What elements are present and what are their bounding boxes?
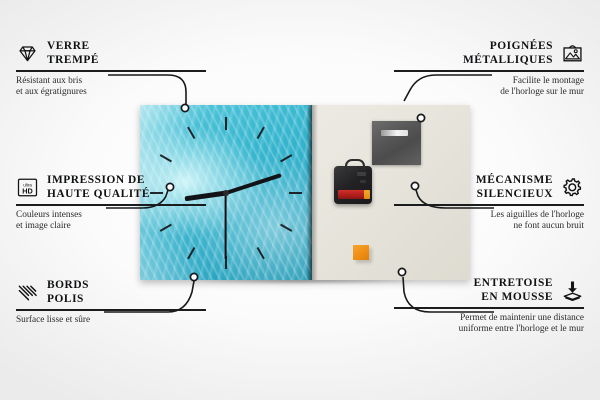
feature-header: ENTRETOISE EN MOUSSE: [394, 277, 584, 304]
feature-bords-polis: BORDS POLIS Surface lisse et sûre: [16, 279, 206, 326]
metal-hanger-plate: [372, 121, 421, 165]
feature-header: ultra HD IMPRESSION DE HAUTE QUALITÉ: [16, 174, 206, 201]
divider: [16, 309, 206, 310]
diamond-icon: [16, 42, 39, 65]
gear-icon: [561, 176, 584, 199]
feature-verre-trempe: VERRE TREMPÉ Résistant aux bris et aux é…: [16, 40, 206, 99]
feature-description: Surface lisse et sûre: [16, 315, 206, 327]
feature-title: BORDS POLIS: [47, 279, 89, 306]
feature-title: ENTRETOISE EN MOUSSE: [474, 277, 553, 304]
foam-spacer: [353, 245, 369, 260]
picture-frame-hanger-icon: [561, 42, 584, 65]
feature-title: POIGNÉES MÉTALLIQUES: [463, 40, 553, 67]
foam-spacer-arrow-icon: [561, 279, 584, 302]
feature-title: IMPRESSION DE HAUTE QUALITÉ: [47, 174, 150, 201]
feature-mecanisme-silencieux: MÉCANISME SILENCIEUX Les aiguilles de l'…: [394, 174, 584, 233]
feature-description: Permet de maintenir une distance uniform…: [394, 313, 584, 336]
feature-impression-haute-qualite: ultra HD IMPRESSION DE HAUTE QUALITÉ Cou…: [16, 174, 206, 233]
feature-description: Couleurs intenses et image claire: [16, 210, 206, 233]
clock-center-pin: [223, 190, 229, 196]
ultra-hd-icon: ultra HD: [16, 176, 39, 199]
clock-mechanism-box: [334, 166, 372, 204]
feature-description: Résistant aux bris et aux égratignures: [16, 76, 206, 99]
feature-header: VERRE TREMPÉ: [16, 40, 206, 67]
divider: [394, 70, 584, 71]
feature-entretoise-en-mousse: ENTRETOISE EN MOUSSE Permet de maintenir…: [394, 277, 584, 336]
feature-description: Les aiguilles de l'horloge ne font aucun…: [394, 210, 584, 233]
feature-header: POIGNÉES MÉTALLIQUES: [394, 40, 584, 67]
battery: [338, 190, 369, 199]
infographic-canvas: VERRE TREMPÉ Résistant aux bris et aux é…: [0, 0, 600, 400]
hanger-loop-icon: [345, 159, 365, 170]
feature-header: BORDS POLIS: [16, 279, 206, 306]
feature-title: MÉCANISME SILENCIEUX: [476, 174, 553, 201]
divider: [16, 204, 206, 205]
mechanism-slot-small: [360, 180, 366, 183]
feature-title: VERRE TREMPÉ: [47, 40, 99, 67]
divider: [394, 204, 584, 205]
svg-text:HD: HD: [22, 186, 33, 195]
divider: [394, 307, 584, 308]
mechanism-slot: [357, 172, 366, 176]
feature-description: Facilite le montage de l'horloge sur le …: [394, 76, 584, 99]
divider: [16, 70, 206, 71]
feature-header: MÉCANISME SILENCIEUX: [394, 174, 584, 201]
polished-edges-icon: [16, 281, 39, 304]
feature-poignees-metalliques: POIGNÉES MÉTALLIQUES Facilite le montage…: [394, 40, 584, 99]
clock-second-hand: [225, 193, 227, 259]
